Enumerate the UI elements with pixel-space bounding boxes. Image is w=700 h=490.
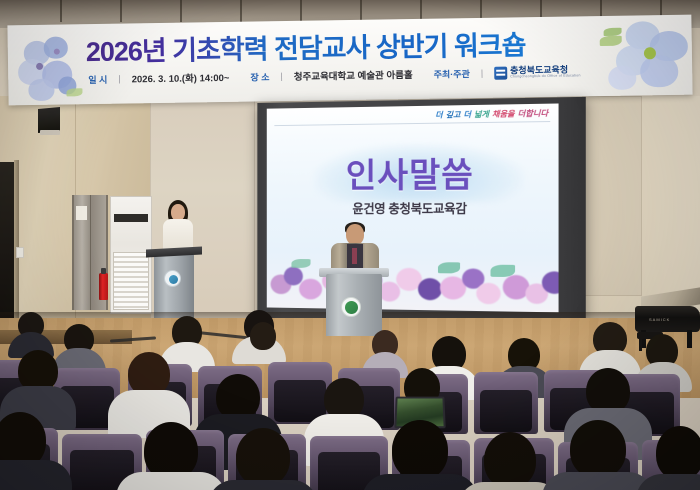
air-conditioner-grill xyxy=(113,252,149,310)
main-podium-emblem-icon xyxy=(345,301,358,314)
projection-screen-frame: 더 깊고 더 넓게 채움을 더합니다 인사말씀 윤건영 충청북도교육감 xyxy=(257,97,585,325)
banner-field-label-host: 주최·주관 xyxy=(434,67,470,81)
screen-right-bezel xyxy=(559,97,586,325)
slogan-word-2: 깊고 xyxy=(446,109,461,120)
fire-extinguisher xyxy=(99,273,108,300)
main-podium-logo xyxy=(341,297,361,317)
banner-flower-right xyxy=(599,19,692,96)
slide-divider xyxy=(274,121,550,126)
banner-divider-2: | xyxy=(280,71,283,81)
slide-subtitle: 윤건영 충청북도교육감 xyxy=(267,198,559,217)
slogan-word-5: 채움을 xyxy=(492,108,515,120)
banner-field-label-place: 장 소 xyxy=(250,70,269,83)
air-conditioner-vent xyxy=(114,214,148,222)
organization-mark-icon xyxy=(494,66,507,79)
slogan-word-1: 더 xyxy=(435,110,442,121)
banner-flower-left xyxy=(14,32,89,103)
banner-field-value-place: 청주교육대학교 예술관 아름홀 xyxy=(294,67,413,83)
slide-slogan: 더 깊고 더 넓게 채움을 더합니다 xyxy=(435,107,548,122)
slogan-word-3: 더 xyxy=(463,109,470,120)
projection-screen: 더 깊고 더 넓게 채움을 더합니다 인사말씀 윤건영 충청북도교육감 xyxy=(267,103,559,312)
speaker-mount xyxy=(40,130,60,135)
speaker-head xyxy=(346,224,364,245)
banner-divider-1: | xyxy=(118,74,121,84)
door-sign xyxy=(76,206,87,220)
slide-title: 인사말씀 xyxy=(267,146,559,197)
audience-area xyxy=(0,316,700,490)
slogan-word-6: 더합니다 xyxy=(518,108,548,120)
speaker-tie xyxy=(352,248,357,264)
banner-divider-3: | xyxy=(481,68,484,78)
banner-field-value-date: 2026. 3. 10.(화) 14:00~ xyxy=(132,70,230,86)
banner-title: 2026년 기초학력 전담교사 상반기 워크숍 xyxy=(85,23,566,70)
wall-panel-right xyxy=(582,96,642,296)
banner-field-label-date: 일 시 xyxy=(88,72,107,85)
side-podium-logo xyxy=(164,270,181,287)
photo-scene: 2026년 기초학력 전담교사 상반기 워크숍 일 시 | 2026. 3. 1… xyxy=(0,0,700,490)
door-frame xyxy=(14,160,19,330)
slide-flower-border xyxy=(267,247,559,312)
event-banner: 2026년 기초학력 전담교사 상반기 워크숍 일 시 | 2026. 3. 1… xyxy=(7,15,692,106)
organization-logo: 충청북도교육청 Chungcheongbuk-do Office of Educ… xyxy=(494,65,581,79)
organization-subtitle: Chungcheongbuk-do Office of Education xyxy=(510,74,580,79)
slogan-word-4: 넓게 xyxy=(474,109,489,120)
wall-switch xyxy=(16,247,24,258)
